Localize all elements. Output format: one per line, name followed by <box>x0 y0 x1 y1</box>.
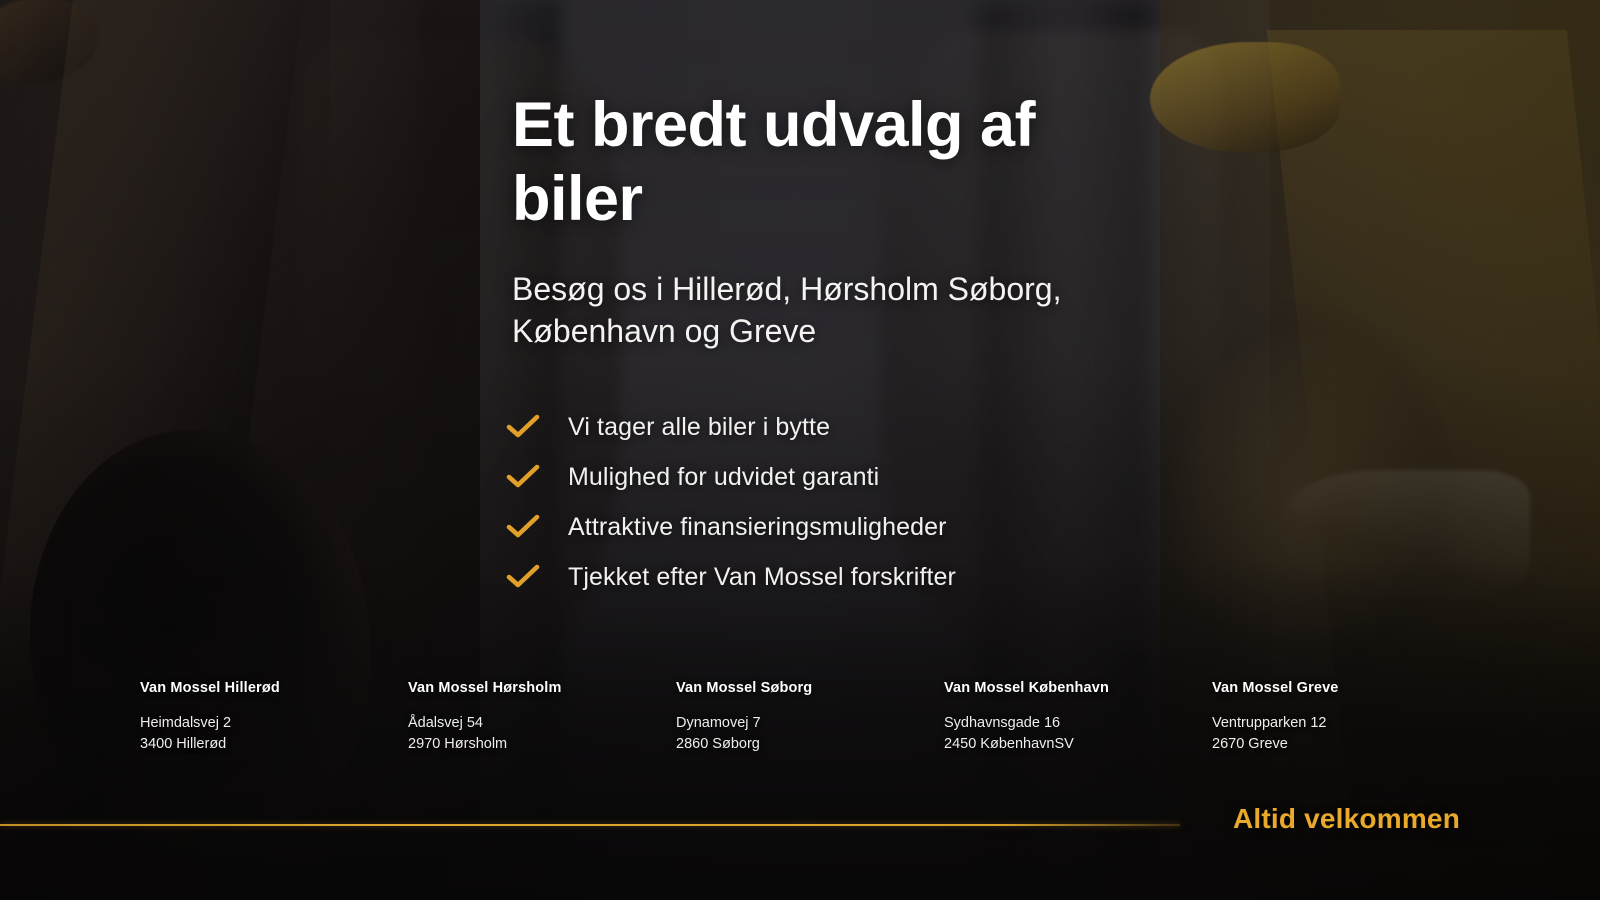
dealer-street: Ådalsvej 54 <box>408 713 676 734</box>
benefit-label: Mulighed for udvidet garanti <box>568 463 879 492</box>
dealer-name: Van Mossel København <box>944 680 1212 696</box>
page-subtitle: Besøg os i Hillerød, Hørsholm Søborg, Kø… <box>512 268 1132 352</box>
check-icon <box>506 462 550 492</box>
dealer-name: Van Mossel Hørsholm <box>408 680 676 696</box>
list-item: Mulighed for udvidet garanti <box>506 452 1166 502</box>
page-title: Et bredt udvalg af biler <box>512 88 1152 237</box>
dealer-name: Van Mossel Søborg <box>676 680 944 696</box>
benefit-label: Vi tager alle biler i bytte <box>568 413 830 442</box>
check-icon <box>506 562 550 592</box>
check-icon <box>506 512 550 542</box>
dealer-card-soborg: Van Mossel Søborg Dynamovej 7 2860 Søbor… <box>676 680 944 755</box>
dealer-name: Van Mossel Greve <box>1212 680 1480 696</box>
dealer-card-kobenhavn: Van Mossel København Sydhavnsgade 16 245… <box>944 680 1212 755</box>
benefit-label: Attraktive finansieringsmuligheder <box>568 513 947 542</box>
dealer-city: 2860 Søborg <box>676 734 944 755</box>
list-item: Vi tager alle biler i bytte <box>506 402 1166 452</box>
dealer-city: 2450 KøbenhavnSV <box>944 734 1212 755</box>
dealer-city: 3400 Hillerød <box>140 734 408 755</box>
benefit-label: Tjekket efter Van Mossel forskrifter <box>568 563 956 592</box>
dealer-city: 2970 Hørsholm <box>408 734 676 755</box>
dealer-card-greve: Van Mossel Greve Ventrupparken 12 2670 G… <box>1212 680 1480 755</box>
dealer-street: Dynamovej 7 <box>676 713 944 734</box>
list-item: Tjekket efter Van Mossel forskrifter <box>506 552 1166 602</box>
dealer-card-horsholm: Van Mossel Hørsholm Ådalsvej 54 2970 Hør… <box>408 680 676 755</box>
dealer-street: Sydhavnsgade 16 <box>944 713 1212 734</box>
list-item: Attraktive finansieringsmuligheder <box>506 502 1166 552</box>
dealer-locations: Van Mossel Hillerød Heimdalsvej 2 3400 H… <box>140 680 1480 755</box>
dealer-card-hillerod: Van Mossel Hillerød Heimdalsvej 2 3400 H… <box>140 680 408 755</box>
benefits-list: Vi tager alle biler i bytte Mulighed for… <box>506 402 1166 602</box>
banner-content: Et bredt udvalg af biler Besøg os i Hill… <box>0 0 1600 900</box>
footer-divider <box>0 824 1180 826</box>
dealer-name: Van Mossel Hillerød <box>140 680 408 696</box>
dealer-city: 2670 Greve <box>1212 734 1480 755</box>
promo-banner: Et bredt udvalg af biler Besøg os i Hill… <box>0 0 1600 900</box>
footer-slogan: Altid velkommen <box>1233 803 1460 835</box>
check-icon <box>506 412 550 442</box>
dealer-street: Heimdalsvej 2 <box>140 713 408 734</box>
dealer-street: Ventrupparken 12 <box>1212 713 1480 734</box>
